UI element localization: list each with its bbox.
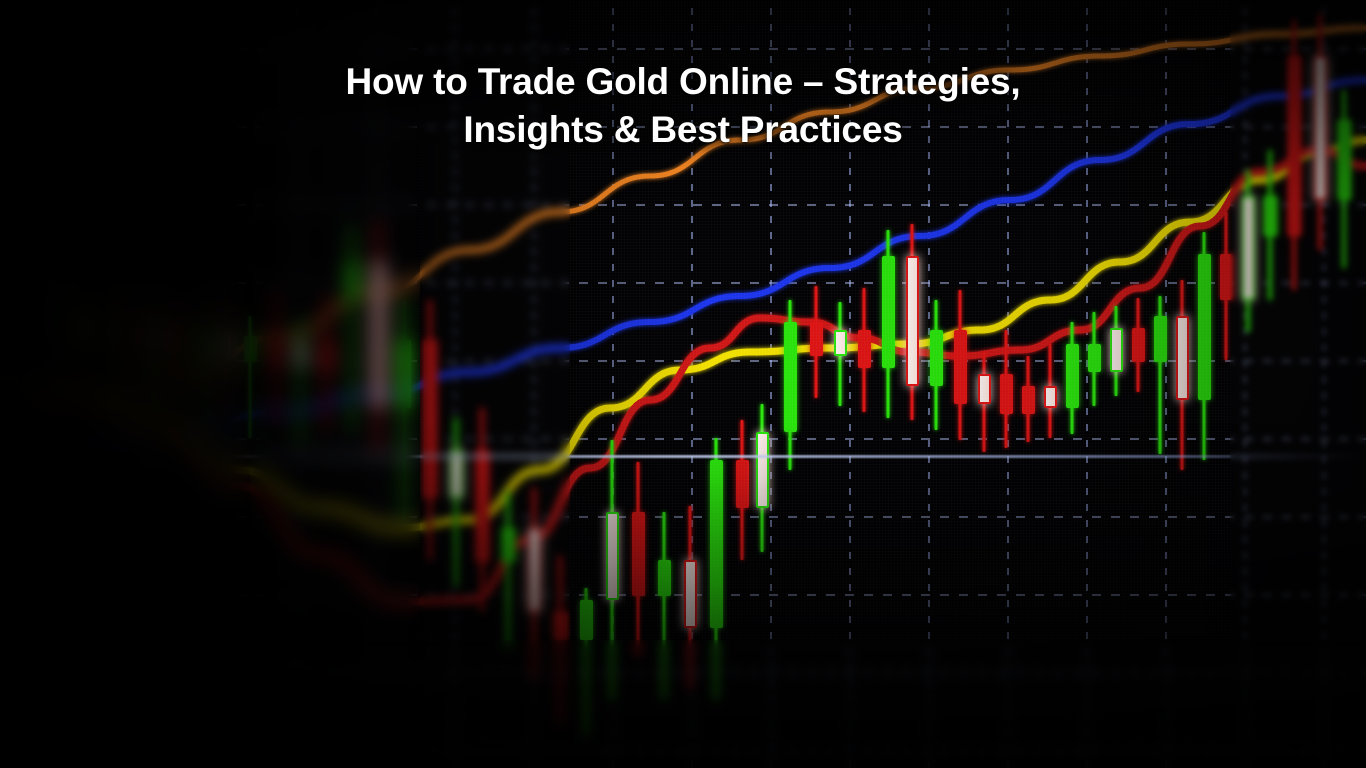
- page-title-line-1: How to Trade Gold Online – Strategies,: [346, 61, 1021, 102]
- blur-zone-bottom: [0, 640, 1366, 768]
- page-title: How to Trade Gold Online – Strategies, I…: [0, 58, 1366, 154]
- banner-title-block: How to Trade Gold Online – Strategies, I…: [0, 58, 1366, 154]
- page-title-line-2: Insights & Best Practices: [463, 109, 902, 150]
- article-hero-banner: How to Trade Gold Online – Strategies, I…: [0, 0, 1366, 768]
